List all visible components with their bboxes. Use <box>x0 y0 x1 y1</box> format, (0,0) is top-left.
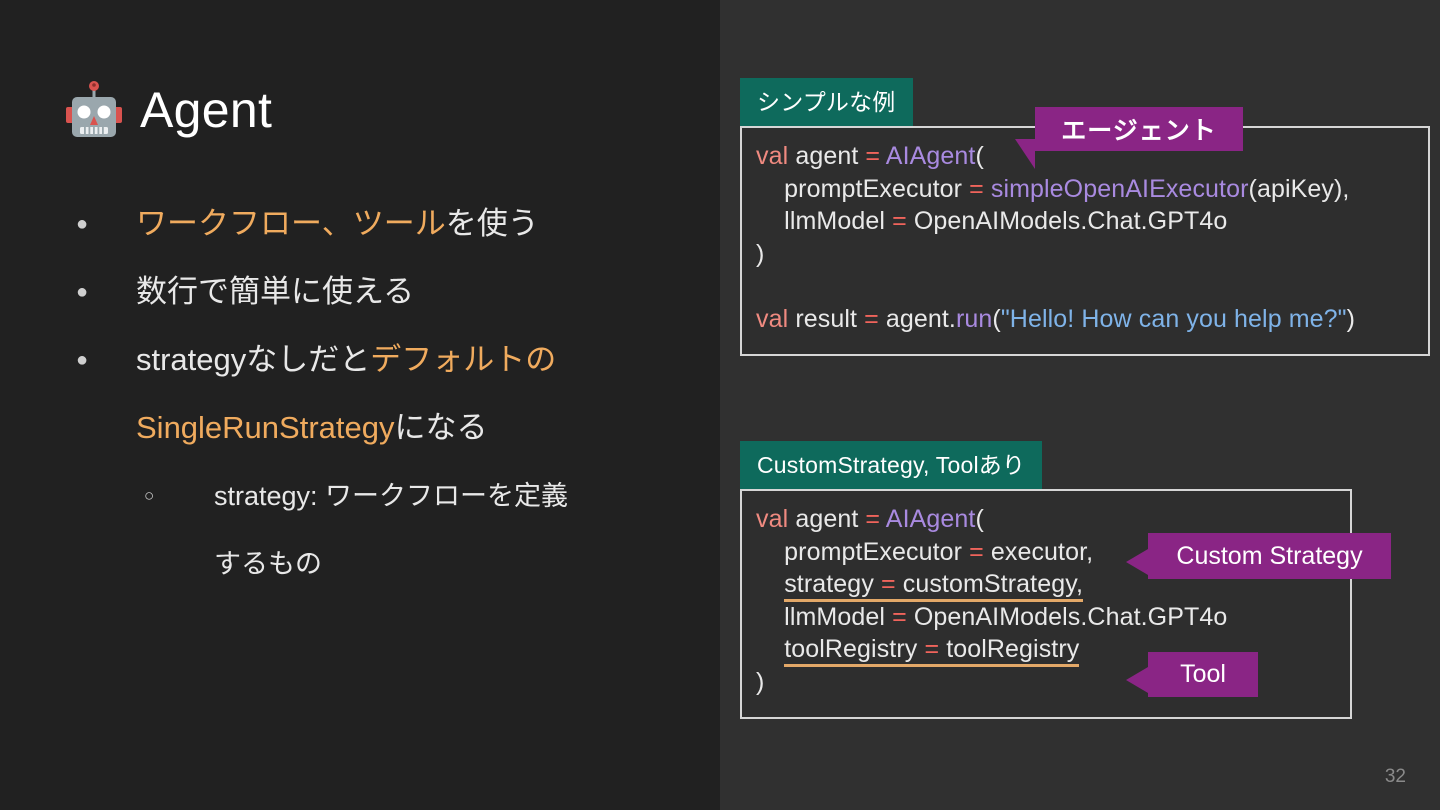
slide-root: Agent ●ワークフロー、ツールを使う●数行で簡単に使える●strategyな… <box>0 0 1440 810</box>
code-line: llmModel = OpenAIModels.Chat.GPT4o <box>756 601 1227 634</box>
bullet-marker-icon: ● <box>66 260 136 324</box>
callout-tail-icon <box>1126 667 1148 693</box>
code-token: run <box>956 305 992 333</box>
code-token <box>756 272 763 300</box>
code-token: result <box>795 305 864 333</box>
code-line: val result = agent.run("Hello! How can y… <box>756 303 1355 336</box>
callout-tool: Tool <box>1148 652 1258 697</box>
list-item: するもの <box>66 532 676 596</box>
code-token <box>756 635 784 663</box>
code-line: llmModel = OpenAIModels.Chat.GPT4o <box>756 205 1355 238</box>
code-token: "Hello! How can you help me?" <box>1001 305 1347 333</box>
code-token: executor, <box>991 538 1093 566</box>
text-segment: SingleRunStrategy <box>136 410 395 445</box>
text-segment: を使う <box>446 206 539 241</box>
code-token: = <box>865 142 885 170</box>
list-item-text: ワークフロー、ツールを使う <box>136 192 539 256</box>
list-item-text: strategyなしだとデフォルトの <box>136 328 556 392</box>
title-row: Agent <box>66 80 272 140</box>
text-segment: ワークフロー、ツール <box>136 206 446 241</box>
list-item: ●strategyなしだとデフォルトの <box>66 328 676 392</box>
code-token: = <box>969 175 991 203</box>
code-token: = <box>892 207 914 235</box>
code-token: promptExecutor <box>756 175 969 203</box>
code-token: ) <box>756 668 764 696</box>
list-item-text: SingleRunStrategyになる <box>136 396 488 460</box>
list-item-text: strategy: ワークフローを定義 <box>214 464 568 528</box>
code-token: ( <box>992 305 1000 333</box>
code-line <box>756 270 1355 303</box>
text-segment: 数行で簡単に使える <box>136 274 414 309</box>
code-token: = <box>865 505 885 533</box>
callout-agent: エージェント <box>1035 107 1243 151</box>
code-token: OpenAIModels.Chat.GPT4o <box>914 207 1228 235</box>
code-token: val <box>756 505 795 533</box>
code-block-simple-example: val agent = AIAgent( promptExecutor = si… <box>740 126 1430 356</box>
page-number: 32 <box>1385 766 1406 788</box>
code-token: = <box>864 305 886 333</box>
callout-agent-label: エージェント <box>1061 111 1217 147</box>
text-segment: strategy: ワークフローを定義 <box>214 481 568 511</box>
callout-tail-icon <box>1015 139 1035 169</box>
list-item: SingleRunStrategyになる <box>66 396 676 460</box>
code-token: AIAgent <box>886 505 976 533</box>
callout-tail-icon <box>1126 549 1148 575</box>
code-token: val <box>756 305 795 333</box>
code-token: promptExecutor <box>756 538 969 566</box>
bullet-marker-icon: ● <box>66 328 136 392</box>
code-token: = <box>969 538 991 566</box>
code-token: ( <box>975 505 983 533</box>
code-line: ) <box>756 238 1355 271</box>
section-label-custom-strategy: CustomStrategy, Toolあり <box>740 441 1042 491</box>
code-token: llmModel <box>756 207 892 235</box>
code-token: strategy <box>784 570 881 602</box>
code-token: llmModel <box>756 603 892 631</box>
text-segment: strategy <box>136 342 246 377</box>
bullet-list: ●ワークフロー、ツールを使う●数行で簡単に使える●strategyなしだとデフォ… <box>66 192 676 600</box>
text-segment: するもの <box>214 549 322 579</box>
code-token: agent. <box>886 305 956 333</box>
code-token: ) <box>756 240 764 268</box>
text-segment: になる <box>395 410 488 445</box>
code-token: val <box>756 142 795 170</box>
bullet-marker-icon: ● <box>66 192 136 256</box>
code-token <box>756 570 784 598</box>
list-item-text: するもの <box>214 532 322 596</box>
callout-custom-strategy: Custom Strategy <box>1148 533 1391 579</box>
code-token: customStrategy, <box>903 570 1083 602</box>
list-item: ●ワークフロー、ツールを使う <box>66 192 676 256</box>
list-item-text: 数行で簡単に使える <box>136 260 414 324</box>
code-line: promptExecutor = simpleOpenAIExecutor(ap… <box>756 173 1355 206</box>
section-label-simple-example: シンプルな例 <box>740 78 913 128</box>
text-segment: なしだと <box>246 342 370 377</box>
code-token: = <box>924 635 946 667</box>
code-token: = <box>892 603 914 631</box>
code-line: val agent = AIAgent( <box>756 503 1227 536</box>
code-token: agent <box>795 505 865 533</box>
code-token: ( <box>975 142 983 170</box>
robot-icon <box>66 80 122 140</box>
list-item: ○strategy: ワークフローを定義 <box>66 464 676 528</box>
code-token: agent <box>795 142 865 170</box>
code-token: toolRegistry <box>946 635 1079 667</box>
code-token: ) <box>1347 305 1355 333</box>
text-segment: デフォルトの <box>370 342 556 377</box>
callout-tool-label: Tool <box>1180 660 1226 689</box>
code-token: toolRegistry <box>784 635 924 667</box>
code-block-custom-strategy: val agent = AIAgent( promptExecutor = ex… <box>740 489 1352 719</box>
bullet-marker-icon: ○ <box>66 464 214 528</box>
code-token: OpenAIModels.Chat.GPT4o <box>914 603 1228 631</box>
page-title: Agent <box>140 85 272 135</box>
code-token: = <box>881 570 903 602</box>
list-item: ●数行で簡単に使える <box>66 260 676 324</box>
code-token: (apiKey), <box>1249 175 1350 203</box>
callout-custom-strategy-label: Custom Strategy <box>1176 542 1362 571</box>
code-content-simple-example: val agent = AIAgent( promptExecutor = si… <box>756 140 1355 335</box>
code-token: AIAgent <box>886 142 976 170</box>
code-token: simpleOpenAIExecutor <box>991 175 1249 203</box>
